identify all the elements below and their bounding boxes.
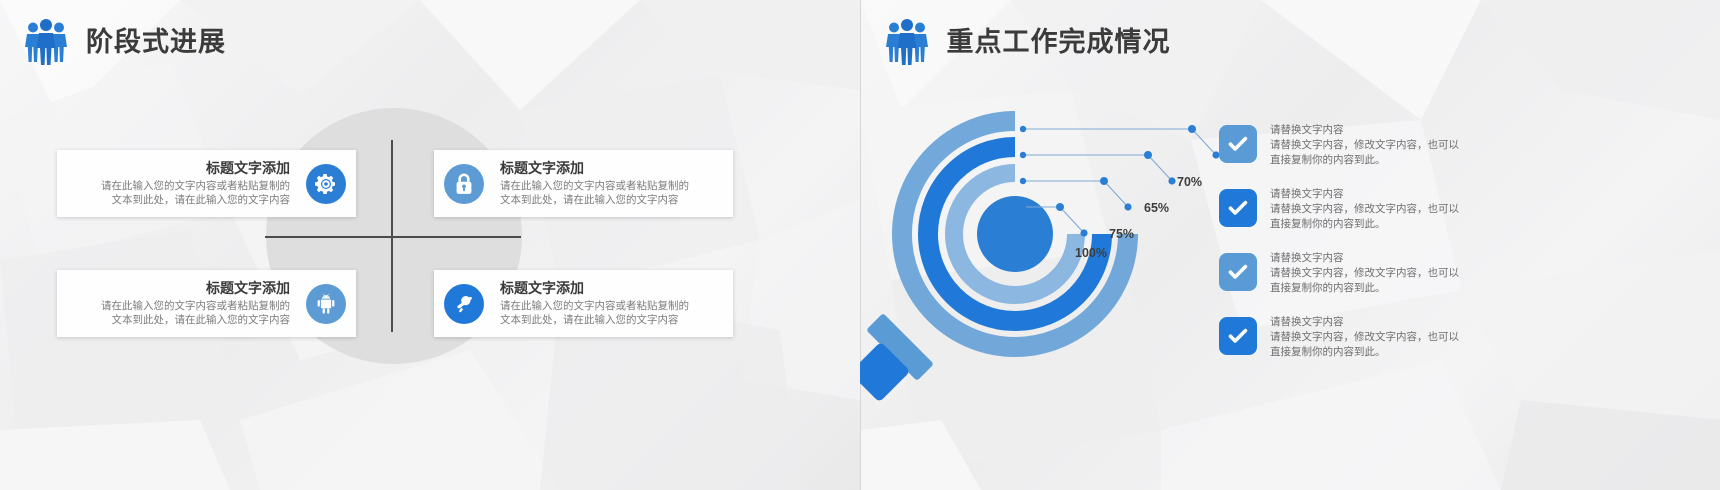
magnifier-handle: [860, 313, 934, 402]
android-icon: [306, 284, 346, 324]
chart-value-label-3: 75%: [1109, 227, 1134, 241]
list-item[interactable]: 请替换文字内容 请替换文字内容，修改文字内容，也可以 直接复制你的内容到此。: [1219, 186, 1509, 232]
page-title: 阶段式进展: [86, 29, 226, 56]
lock-icon: [444, 164, 484, 204]
list-item-title: 请替换文字内容: [1270, 123, 1509, 138]
list-item-title: 请替换文字内容: [1270, 187, 1509, 202]
slide-stage-progress: 阶段式进展 标题文字添加 请在此输入您的文字内容或者粘贴复制的 文本到此处，请在…: [0, 0, 860, 490]
content-card-2-body-line1: 请在此输入您的文字内容或者粘贴复制的: [500, 179, 725, 193]
chart-value-label-4: 100%: [1075, 246, 1107, 260]
list-item-title: 请替换文字内容: [1270, 251, 1509, 266]
check-icon: [1219, 317, 1257, 355]
list-item-body-line2: 直接复制你的内容到此。: [1270, 345, 1509, 360]
list-item-text: 请替换文字内容 请替换文字内容，修改文字内容，也可以 直接复制你的内容到此。: [1270, 314, 1509, 360]
list-item-body-line1: 请替换文字内容，修改文字内容，也可以: [1270, 330, 1509, 345]
check-icon: [1219, 253, 1257, 291]
content-card-2-body-line2: 文本到此处，请在此输入您的文字内容: [500, 193, 725, 207]
content-card-3-text: 标题文字添加 请在此输入您的文字内容或者粘贴复制的 文本到此处，请在此输入您的文…: [57, 280, 296, 327]
content-card-2[interactable]: 标题文字添加 请在此输入您的文字内容或者粘贴复制的 文本到此处，请在此输入您的文…: [434, 150, 733, 217]
people-group-icon: [24, 18, 68, 66]
content-card-4-body-line2: 文本到此处，请在此输入您的文字内容: [500, 313, 725, 327]
content-card-1-text: 标题文字添加 请在此输入您的文字内容或者粘贴复制的 文本到此处，请在此输入您的文…: [57, 160, 296, 207]
check-icon: [1219, 125, 1257, 163]
slide-header-right: 重点工作完成情况: [885, 18, 1171, 66]
bell-icon: [444, 284, 484, 324]
people-group-icon: [885, 18, 929, 66]
page-title: 重点工作完成情况: [947, 29, 1171, 56]
content-card-2-title: 标题文字添加: [500, 160, 725, 177]
content-card-1-body-line2: 文本到此处，请在此输入您的文字内容: [65, 193, 290, 207]
list-item-body-line2: 直接复制你的内容到此。: [1270, 281, 1509, 296]
gear-icon: [306, 164, 346, 204]
checklist: 请替换文字内容 请替换文字内容，修改文字内容，也可以 直接复制你的内容到此。 请…: [1219, 122, 1509, 378]
content-card-4[interactable]: 标题文字添加 请在此输入您的文字内容或者粘贴复制的 文本到此处，请在此输入您的文…: [434, 270, 733, 337]
content-card-4-text: 标题文字添加 请在此输入您的文字内容或者粘贴复制的 文本到此处，请在此输入您的文…: [494, 280, 733, 327]
content-card-3-title: 标题文字添加: [65, 280, 290, 297]
list-item-body-line1: 请替换文字内容，修改文字内容，也可以: [1270, 266, 1509, 281]
list-item-text: 请替换文字内容 请替换文字内容，修改文字内容，也可以 直接复制你的内容到此。: [1270, 186, 1509, 232]
list-item[interactable]: 请替换文字内容 请替换文字内容，修改文字内容，也可以 直接复制你的内容到此。: [1219, 122, 1509, 168]
list-item-title: 请替换文字内容: [1270, 315, 1509, 330]
slide-header-left: 阶段式进展: [24, 18, 226, 66]
content-card-1[interactable]: 标题文字添加 请在此输入您的文字内容或者粘贴复制的 文本到此处，请在此输入您的文…: [57, 150, 356, 217]
list-item-text: 请替换文字内容 请替换文字内容，修改文字内容，也可以 直接复制你的内容到此。: [1270, 250, 1509, 296]
list-item[interactable]: 请替换文字内容 请替换文字内容，修改文字内容，也可以 直接复制你的内容到此。: [1219, 314, 1509, 360]
chart-value-label-2: 65%: [1144, 201, 1169, 215]
list-item-body-line1: 请替换文字内容，修改文字内容，也可以: [1270, 202, 1509, 217]
content-card-4-body-line1: 请在此输入您的文字内容或者粘贴复制的: [500, 299, 725, 313]
list-item-body-line1: 请替换文字内容，修改文字内容，也可以: [1270, 138, 1509, 153]
cross-divider-horizontal: [265, 236, 521, 238]
check-icon: [1219, 189, 1257, 227]
content-card-3-body-line2: 文本到此处，请在此输入您的文字内容: [65, 313, 290, 327]
content-card-4-title: 标题文字添加: [500, 280, 725, 297]
list-item[interactable]: 请替换文字内容 请替换文字内容，修改文字内容，也可以 直接复制你的内容到此。: [1219, 250, 1509, 296]
list-item-text: 请替换文字内容 请替换文字内容，修改文字内容，也可以 直接复制你的内容到此。: [1270, 122, 1509, 168]
chart-value-label-1: 70%: [1177, 175, 1202, 189]
list-item-body-line2: 直接复制你的内容到此。: [1270, 153, 1509, 168]
content-card-3-body-line1: 请在此输入您的文字内容或者粘贴复制的: [65, 299, 290, 313]
content-card-1-title: 标题文字添加: [65, 160, 290, 177]
content-card-1-body-line1: 请在此输入您的文字内容或者粘贴复制的: [65, 179, 290, 193]
content-card-2-text: 标题文字添加 请在此输入您的文字内容或者粘贴复制的 文本到此处，请在此输入您的文…: [494, 160, 733, 207]
content-card-3[interactable]: 标题文字添加 请在此输入您的文字内容或者粘贴复制的 文本到此处，请在此输入您的文…: [57, 270, 356, 337]
list-item-body-line2: 直接复制你的内容到此。: [1270, 217, 1509, 232]
